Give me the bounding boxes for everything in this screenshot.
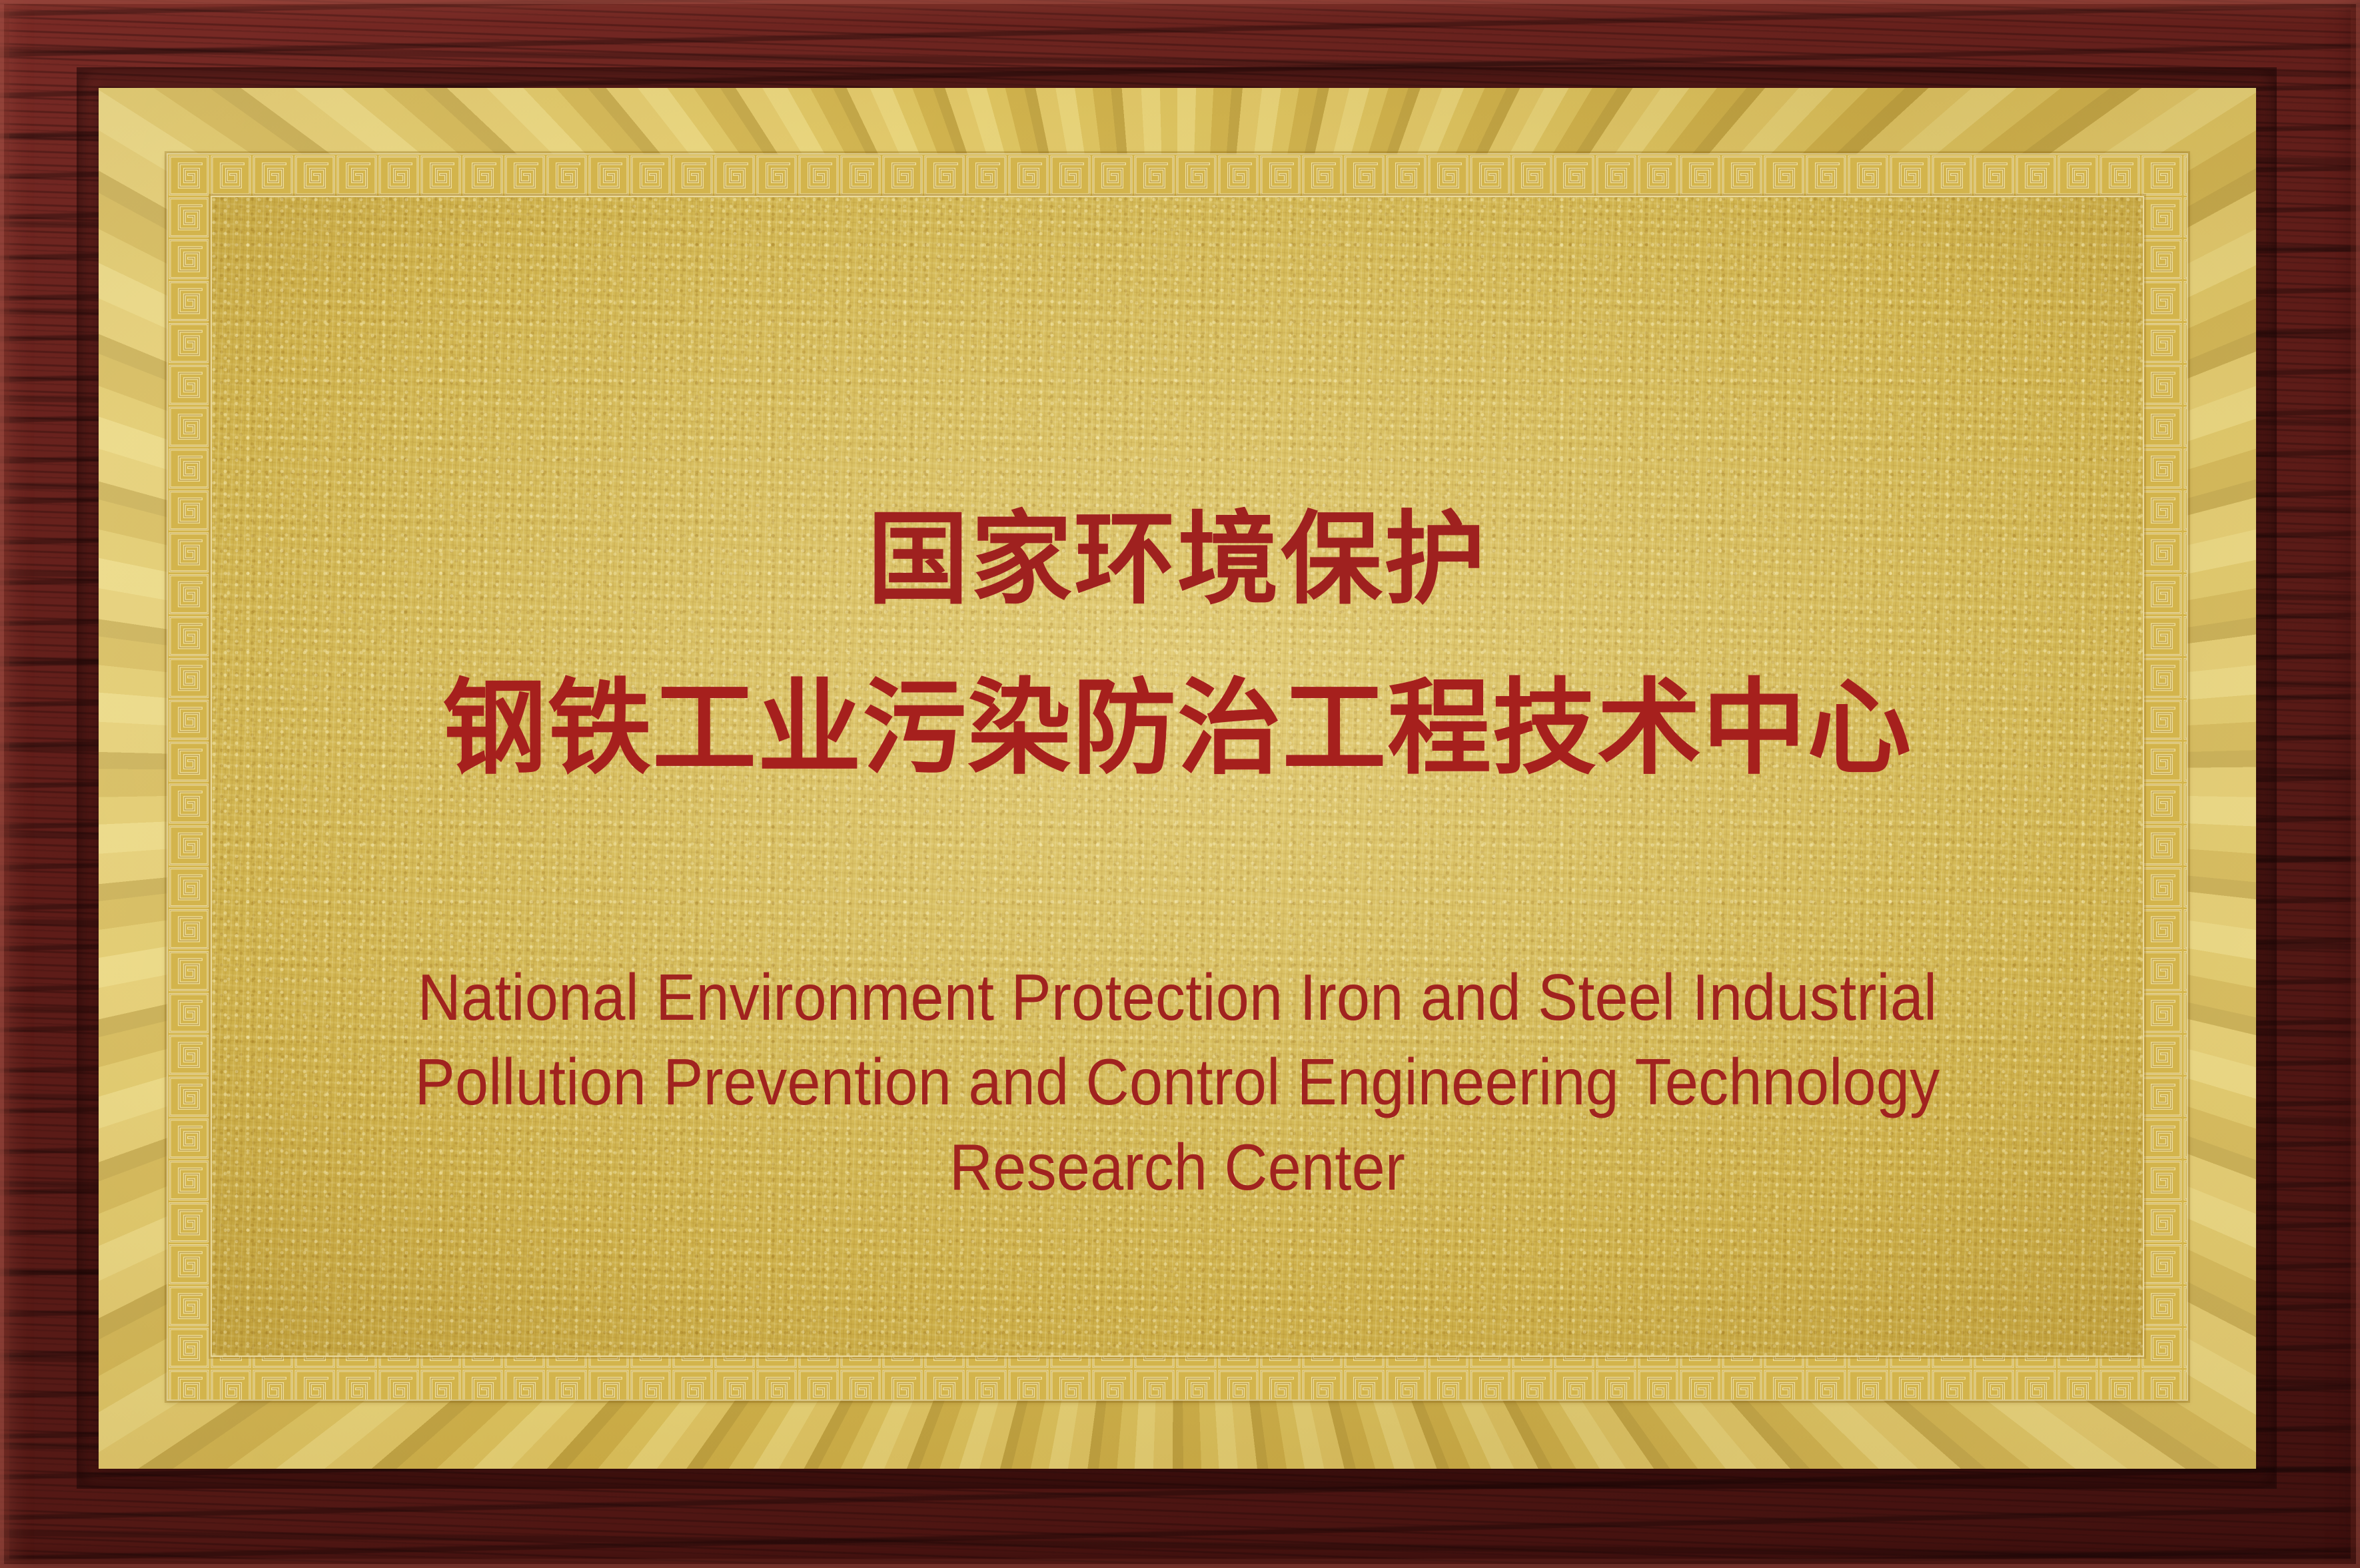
- mottled-gold-field: [212, 197, 2143, 1356]
- meander-border: 国家环境保护 钢铁工业污染防治工程技术中心 National Environme…: [168, 155, 2187, 1399]
- plaque-image: 国家环境保护 钢铁工业污染防治工程技术中心 National Environme…: [0, 0, 2360, 1568]
- gold-plate: 国家环境保护 钢铁工业污染防治工程技术中心 National Environme…: [99, 88, 2256, 1469]
- plate-inner-panel: 国家环境保护 钢铁工业污染防治工程技术中心 National Environme…: [212, 197, 2143, 1356]
